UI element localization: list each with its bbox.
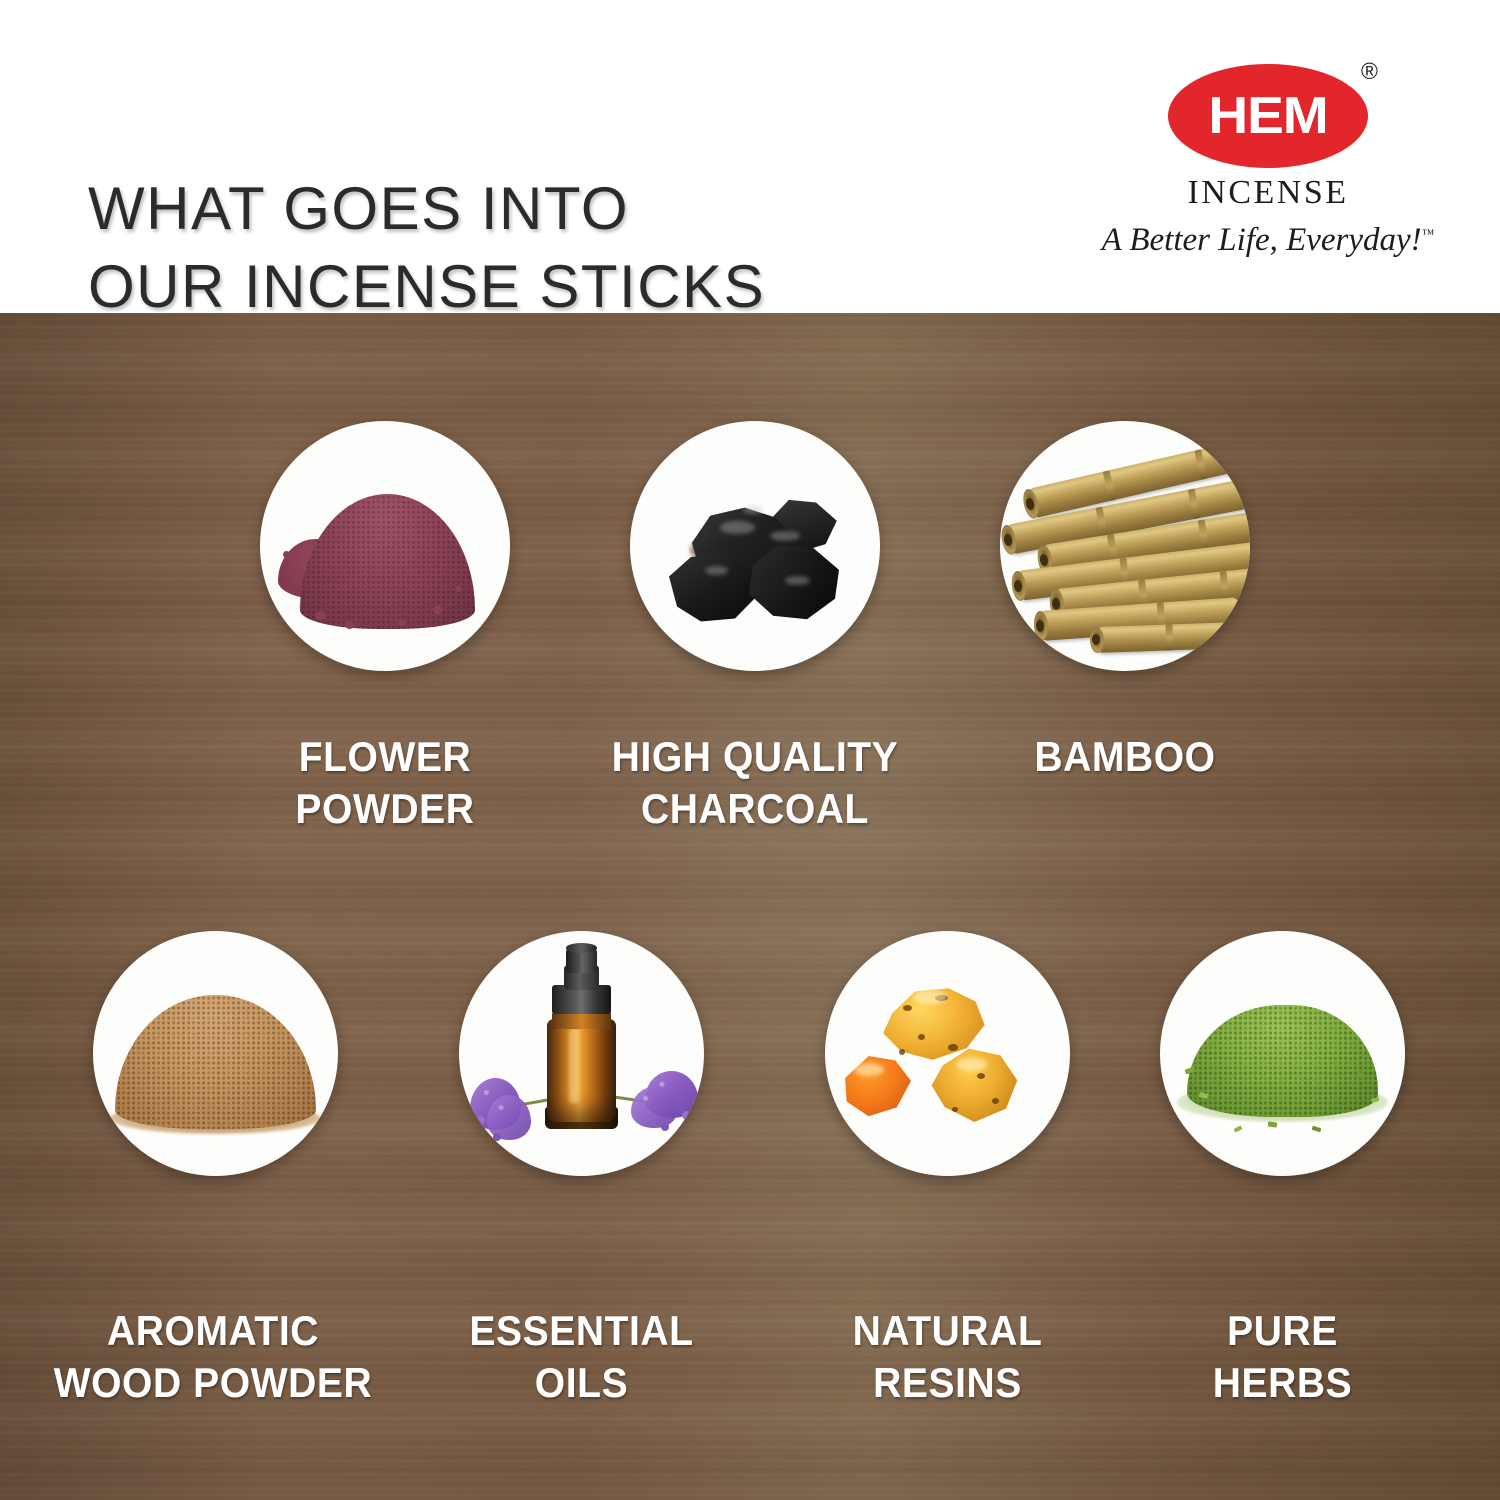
wood-powder-label-line-2: WOOD POWDER (22, 1357, 403, 1409)
registered-trademark-icon: ® (1361, 60, 1378, 83)
hem-logo[interactable]: HEM ® INCENSE A Better Life, Everyday!™ (1098, 62, 1438, 267)
flower-powder-label: FLOWER POWDER (218, 679, 553, 887)
pure-herbs-image (1160, 931, 1405, 1176)
bamboo-label: BAMBOO (953, 679, 1297, 783)
natural-resins-label: NATURAL RESINS (778, 1253, 1117, 1461)
ingredient-bamboo[interactable]: BAMBOO (1000, 421, 1250, 671)
logo-badge: HEM ® (1168, 64, 1368, 168)
natural-resins-label-line-1: NATURAL (853, 1307, 1043, 1354)
logo-tagline-text: A Better Life, Everyday! (1102, 222, 1422, 258)
essential-oils-image (459, 931, 704, 1176)
ingredients-grid: FLOWER POWDER (0, 313, 1500, 1500)
header-band: WHAT GOES INTO OUR INCENSE STICKS HEM ® … (0, 0, 1500, 313)
charcoal-image (630, 421, 880, 671)
page-title-line-1: WHAT GOES INTO (88, 175, 629, 242)
flower-powder-image (260, 421, 510, 671)
logo-tagline: A Better Life, Everyday!™ (1098, 222, 1438, 259)
trademark-icon: ™ (1422, 226, 1435, 241)
bottle-body (547, 1019, 616, 1122)
pure-herbs-label-line-2: HERBS (1113, 1357, 1452, 1409)
charcoal-label-line-1: HIGH QUALITY (612, 733, 899, 780)
wood-powder-label: AROMATIC WOOD POWDER (22, 1253, 403, 1461)
essential-oils-label-line-1: ESSENTIAL (469, 1307, 693, 1354)
natural-resins-image (825, 931, 1070, 1176)
flower-powder-label-line-1: FLOWER (299, 733, 472, 780)
infographic-page: WHAT GOES INTO OUR INCENSE STICKS HEM ® … (0, 0, 1500, 1500)
charcoal-label: HIGH QUALITY CHARCOAL (569, 679, 941, 887)
ingredient-flower-powder[interactable]: FLOWER POWDER (260, 421, 510, 671)
wood-powder-label-line-1: AROMATIC (107, 1307, 319, 1354)
natural-resins-label-line-2: RESINS (778, 1357, 1117, 1409)
essential-oils-label: ESSENTIAL OILS (407, 1253, 756, 1461)
ingredient-pure-herbs[interactable]: PURE HERBS (1160, 931, 1405, 1176)
bamboo-image (1000, 421, 1250, 671)
pure-herbs-label: PURE HERBS (1113, 1253, 1452, 1461)
ingredient-essential-oils[interactable]: ESSENTIAL OILS (459, 931, 704, 1176)
ingredient-natural-resins[interactable]: NATURAL RESINS (825, 931, 1070, 1176)
ingredient-aromatic-wood-powder[interactable]: AROMATIC WOOD POWDER (93, 931, 338, 1176)
wood-powder-image (93, 931, 338, 1176)
flower-powder-label-line-2: POWDER (218, 783, 553, 835)
bamboo-label-line-1: BAMBOO (1034, 733, 1215, 780)
pure-herbs-label-line-1: PURE (1227, 1307, 1338, 1354)
lavender-right-icon (606, 1068, 704, 1146)
logo-brand-text: HEM (1162, 64, 1374, 168)
charcoal-label-line-2: CHARCOAL (569, 783, 941, 835)
logo-subtitle: INCENSE (1098, 174, 1438, 212)
ingredient-high-quality-charcoal[interactable]: HIGH QUALITY CHARCOAL (630, 421, 880, 671)
essential-oils-label-line-2: OILS (407, 1357, 756, 1409)
